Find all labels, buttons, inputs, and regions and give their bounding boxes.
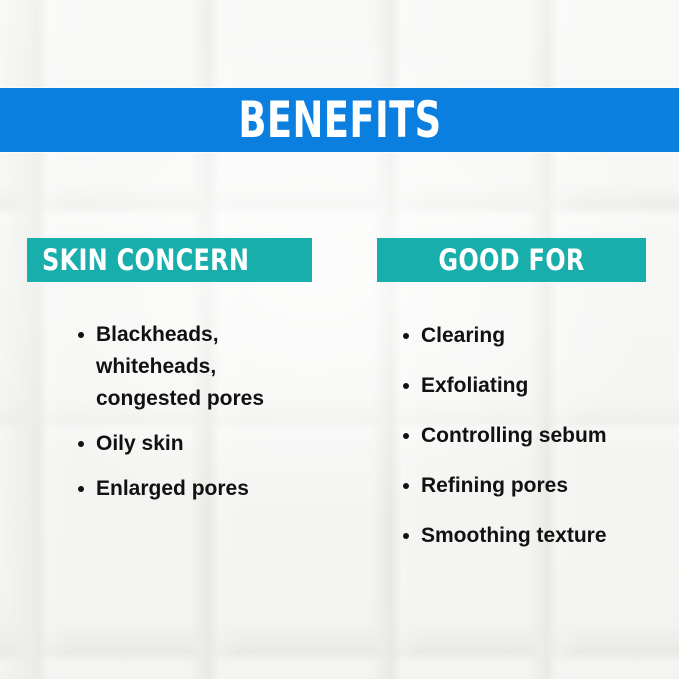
list-item: Clearing bbox=[397, 320, 657, 352]
section-header-skin-concern-label: SKIN CONCERN bbox=[42, 243, 249, 277]
column-good-for: GOOD FOR Clearing Exfoliating Controllin… bbox=[377, 238, 662, 552]
list-item: Refining pores bbox=[397, 470, 657, 502]
skin-concern-list: Blackheads, whiteheads, congested pores … bbox=[72, 319, 322, 505]
section-header-good-for: GOOD FOR bbox=[377, 238, 646, 282]
list-item: Controlling sebum bbox=[397, 420, 657, 452]
section-header-skin-concern: SKIN CONCERN bbox=[27, 238, 312, 282]
list-item: Exfoliating bbox=[397, 370, 657, 402]
good-for-list: Clearing Exfoliating Controlling sebum R… bbox=[397, 320, 657, 552]
column-skin-concern: SKIN CONCERN Blackheads, whiteheads, con… bbox=[27, 238, 357, 505]
list-item: Smoothing texture bbox=[397, 520, 657, 552]
benefits-infographic: BENEFITS SKIN CONCERN Blackheads, whiteh… bbox=[0, 0, 679, 679]
list-item: Enlarged pores bbox=[72, 473, 322, 505]
list-item: Blackheads, whiteheads, congested pores bbox=[72, 319, 322, 415]
list-item: Oily skin bbox=[72, 428, 322, 460]
benefits-banner: BENEFITS bbox=[0, 88, 679, 152]
section-header-good-for-label: GOOD FOR bbox=[438, 243, 584, 277]
page-title: BENEFITS bbox=[238, 95, 441, 145]
